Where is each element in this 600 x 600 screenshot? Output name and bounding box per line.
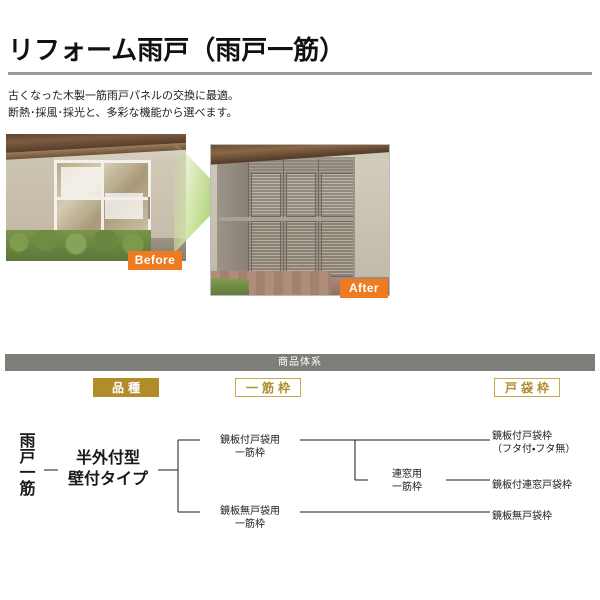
after-photo xyxy=(210,144,390,296)
before-photo xyxy=(5,133,187,262)
tree-frame-3-line-1: 鏡板無戸袋用 xyxy=(202,505,298,518)
after-shutter-upper-louver xyxy=(321,173,355,217)
tree-frame-1-line-1: 鏡板付戸袋用 xyxy=(202,434,298,447)
after-wall-right xyxy=(355,159,389,295)
tree-type-line-1: 半外付型 xyxy=(62,448,154,469)
column-header-hitosuji-waku: 一筋枠 xyxy=(235,378,301,397)
after-grass xyxy=(210,279,249,296)
tree-frame-kyoban-tsuki: 鏡板付戸袋用 一筋枠 xyxy=(202,434,298,460)
column-header-hinshu: 品種 xyxy=(93,378,159,397)
title-divider xyxy=(8,72,592,75)
tree-pocket-2-line-1: 鏡板付連窓戸袋枠 xyxy=(492,479,598,492)
after-shutter-middle-rail xyxy=(219,217,353,221)
tree-pocket-3-line-1: 鏡板無戸袋枠 xyxy=(492,510,598,523)
tree-type-line-2: 壁付タイプ xyxy=(62,469,154,490)
tree-pocket-1-line-2: （フタ付・フタ無） xyxy=(492,443,598,456)
tree-pocket-kyoban-tsuki: 鏡板付戸袋枠 （フタ付・フタ無） xyxy=(492,430,598,456)
tree-root-text: 雨戸一筋 xyxy=(15,432,36,496)
before-door-handle xyxy=(148,197,150,219)
intro-line-1: 古くなった木製一筋雨戸パネルの交換に最適。 xyxy=(8,88,239,105)
tree-frame-2-line-2: 一筋枠 xyxy=(370,481,444,494)
after-shutter-upper-louver xyxy=(286,173,316,217)
before-after-photo-band: Before After xyxy=(0,133,600,308)
tree-type-label: 半外付型 壁付タイプ xyxy=(62,448,154,490)
tree-frame-1-line-2: 一筋枠 xyxy=(202,447,298,460)
tree-pocket-1-line-1: 鏡板付戸袋枠 xyxy=(492,430,598,443)
product-system-bar: 商品体系 xyxy=(5,354,595,371)
before-door-rail xyxy=(57,197,148,200)
tree-frame-renmado: 連窓用 一筋枠 xyxy=(370,468,444,494)
after-shutter-lower-louver xyxy=(251,221,281,277)
tree-frame-kyoban-nashi: 鏡板無戸袋用 一筋枠 xyxy=(202,505,298,531)
tree-root-label: 雨戸一筋 xyxy=(14,432,36,502)
before-badge: Before xyxy=(128,251,182,270)
page-title: リフォーム雨戸（雨戸一筋） xyxy=(8,30,345,67)
after-shutter-lower-louver xyxy=(286,221,316,277)
intro-line-2: 断熱･採風･採光と、多彩な機能から選べます。 xyxy=(8,105,239,122)
intro-text: 古くなった木製一筋雨戸パネルの交換に最適。 断熱･採風･採光と、多彩な機能から選… xyxy=(8,88,239,122)
after-badge: After xyxy=(340,279,388,298)
tree-pocket-renmado: 鏡板付連窓戸袋枠 xyxy=(492,479,598,492)
before-shoji-panel xyxy=(61,167,101,197)
tree-pocket-kyoban-nashi: 鏡板無戸袋枠 xyxy=(492,510,598,523)
tree-frame-2-line-1: 連窓用 xyxy=(370,468,444,481)
column-header-tobukuro-waku: 戸袋枠 xyxy=(494,378,560,397)
after-shutter-lower-louver xyxy=(321,221,355,277)
tree-frame-3-line-2: 一筋枠 xyxy=(202,518,298,531)
after-shutter-upper-louver xyxy=(251,173,281,217)
after-louver-shutter-assembly xyxy=(217,157,355,283)
before-sliding-glass-door xyxy=(54,160,151,238)
